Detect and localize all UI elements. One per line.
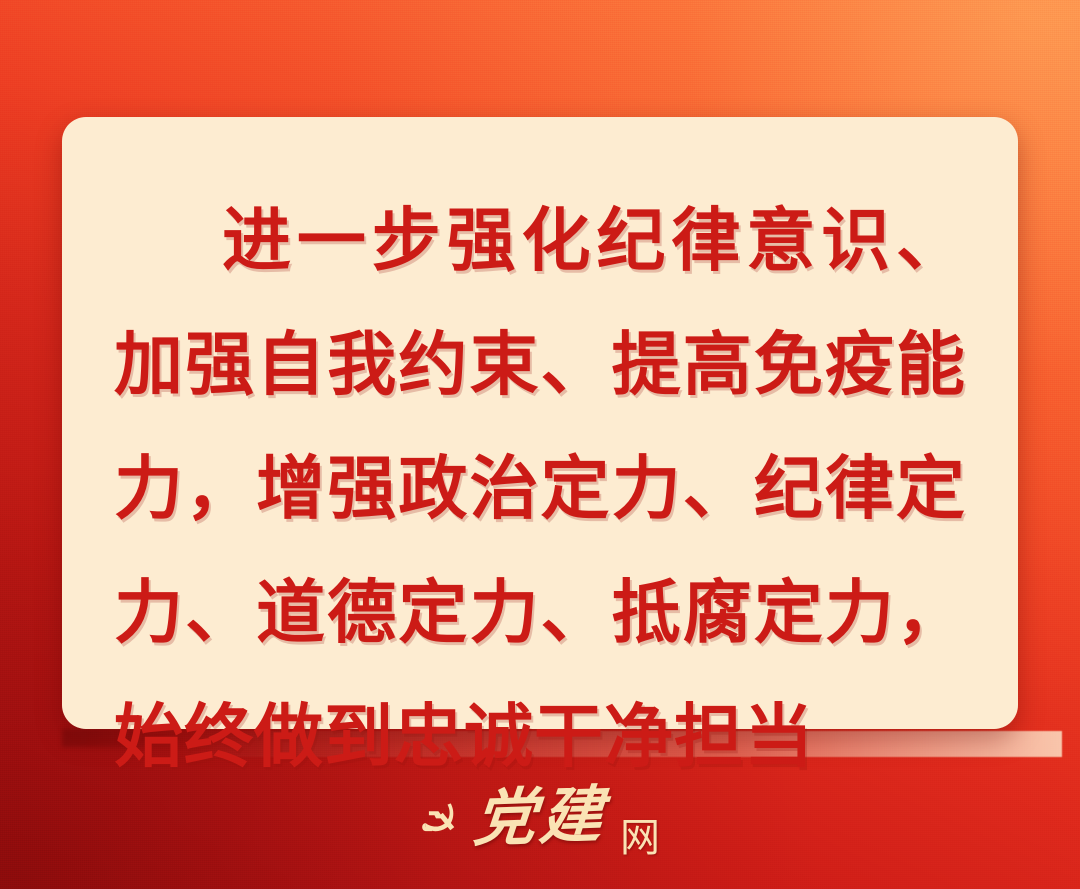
brand-lockup: 党建 网 bbox=[0, 772, 1080, 864]
brand-name-calligraphy: 党建 bbox=[471, 785, 609, 852]
poster-root: 进一步强化纪律意识、加强自我约束、提高免疫能力，增强政治定力、纪律定力、道德定力… bbox=[0, 0, 1080, 889]
quote-card: 进一步强化纪律意识、加强自我约束、提高免疫能力，增强政治定力、纪律定力、道德定力… bbox=[62, 117, 1018, 729]
hammer-and-sickle-emblem-icon bbox=[420, 801, 460, 839]
quote-text: 进一步强化纪律意识、加强自我约束、提高免疫能力，增强政治定力、纪律定力、道德定力… bbox=[114, 179, 966, 799]
brand-name-suffix: 网 bbox=[620, 818, 660, 858]
